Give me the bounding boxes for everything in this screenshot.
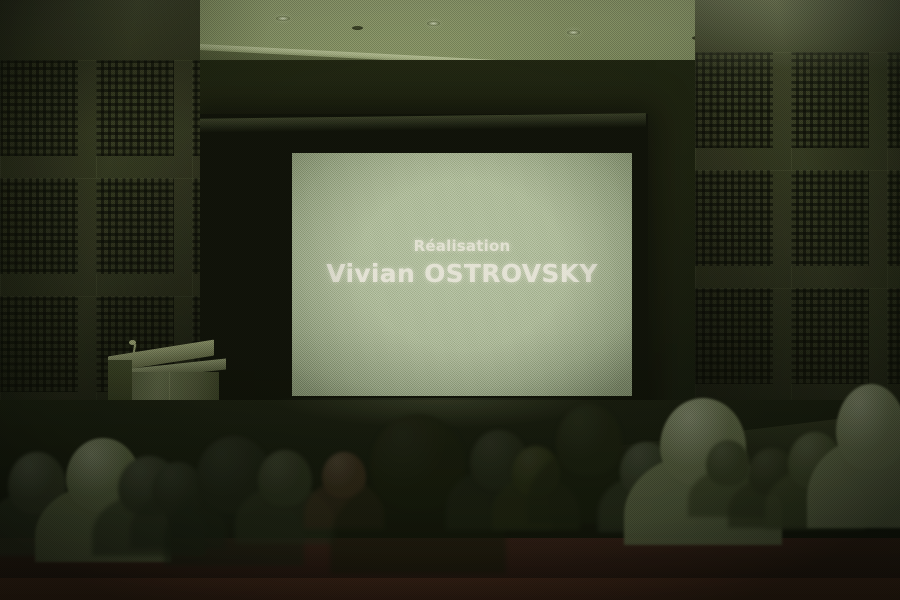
audience-head-14 [706,440,750,486]
downlight-1-icon [276,16,290,21]
seat-row-front [0,578,900,600]
downlight-4-icon [567,30,580,35]
audience-head-6 [258,450,312,506]
downlight-2-icon [352,26,363,30]
audience-head-11 [556,404,622,476]
screen-vignette [292,153,632,396]
auditorium-scene: Réalisation Vivian OSTROVSKY [0,0,900,600]
downlight-3-icon [427,21,440,26]
microphone-head [129,340,136,345]
projection-screen: Réalisation Vivian OSTROVSKY [292,153,632,396]
audience-head-17 [836,384,900,470]
audience-group [0,370,900,600]
